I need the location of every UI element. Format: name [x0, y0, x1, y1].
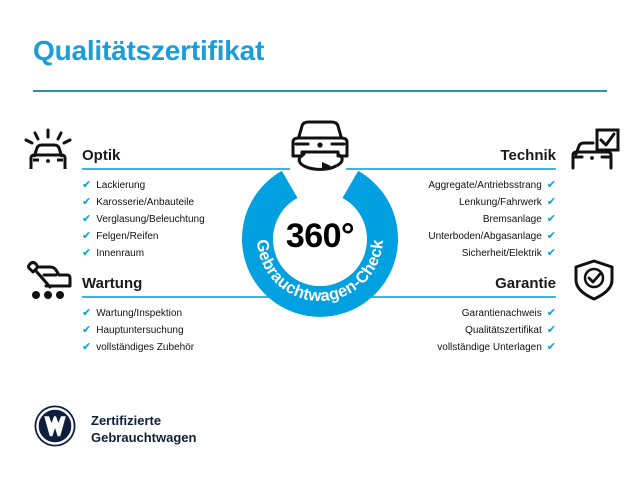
check-icon: ✔	[82, 322, 91, 339]
section-divider-optik	[82, 168, 242, 170]
car-checkbox-icon	[566, 128, 620, 177]
car-shine-icon	[22, 128, 74, 177]
check-icon: ✔	[547, 245, 556, 262]
check-icon: ✔	[547, 177, 556, 194]
check-icon: ✔	[82, 177, 91, 194]
list-item: ✔ Karosserie/Anbauteile	[82, 194, 242, 211]
qualitaetszertifikat-page: Qualitätszertifikat	[0, 0, 640, 480]
check-icon: ✔	[82, 339, 91, 356]
list-item-label: Lenkung/Fahrwerk	[459, 194, 542, 211]
checklist-wartung: ✔ Wartung/Inspektion ✔ Hauptuntersuchung…	[82, 305, 242, 356]
car-rotation-icon	[276, 110, 364, 183]
check-icon: ✔	[82, 194, 91, 211]
list-item: ✔ Lackierung	[82, 177, 242, 194]
check-icon: ✔	[82, 211, 91, 228]
list-item-label: Unterboden/Abgasanlage	[428, 228, 541, 245]
list-item: ✔ Innenraum	[82, 245, 242, 262]
page-title: Qualitätszertifikat	[33, 35, 264, 67]
360-gebrauchtwagen-check-badge: Gebrauchtwagen-Check 360°	[232, 150, 408, 326]
check-icon: ✔	[547, 305, 556, 322]
list-item-label: Verglasung/Beleuchtung	[96, 211, 204, 228]
list-item-label: Lackierung	[96, 177, 145, 194]
list-item: ✔ vollständige Unterlagen	[346, 339, 556, 356]
vw-logo	[33, 404, 77, 453]
section-title-optik: Optik	[82, 147, 120, 164]
list-item-label: Sicherheit/Elektrik	[462, 245, 542, 262]
check-icon: ✔	[82, 305, 91, 322]
check-icon: ✔	[547, 339, 556, 356]
list-item: ✔ Hauptuntersuchung	[82, 322, 242, 339]
list-item-label: Hauptuntersuchung	[96, 322, 183, 339]
list-item-label: Garantienachweis	[462, 305, 542, 322]
section-wartung: Wartung ✔ Wartung/Inspektion ✔ Hauptunte…	[82, 268, 242, 356]
check-icon: ✔	[547, 194, 556, 211]
section-header-optik: Optik	[82, 140, 242, 170]
check-icon: ✔	[547, 211, 556, 228]
header-divider	[33, 90, 607, 92]
brand-line-2: Gebrauchtwagen	[91, 429, 196, 446]
check-icon: ✔	[82, 228, 91, 245]
section-title-wartung: Wartung	[82, 275, 142, 292]
section-title-garantie: Garantie	[495, 275, 556, 292]
list-item-label: Wartung/Inspektion	[96, 305, 182, 322]
brand-text: Zertifizierte Gebrauchtwagen	[91, 412, 196, 446]
list-item: ✔ Verglasung/Beleuchtung	[82, 211, 242, 228]
list-item-label: Bremsanlage	[483, 211, 542, 228]
section-title-technik: Technik	[500, 147, 556, 164]
brand-line-1: Zertifizierte	[91, 412, 196, 429]
list-item: ✔ Wartung/Inspektion	[82, 305, 242, 322]
list-item: ✔ vollständiges Zubehör	[82, 339, 242, 356]
footer-brand: Zertifizierte Gebrauchtwagen	[33, 404, 196, 453]
section-divider-wartung	[82, 296, 242, 298]
shield-check-icon	[572, 258, 616, 307]
list-item-label: vollständiges Zubehör	[96, 339, 194, 356]
list-item-label: Felgen/Reifen	[96, 228, 158, 245]
list-item-label: Aggregate/Antriebsstrang	[428, 177, 541, 194]
check-icon: ✔	[547, 322, 556, 339]
check-icon: ✔	[547, 228, 556, 245]
list-item-label: Innenraum	[96, 245, 144, 262]
checklist-optik: ✔ Lackierung ✔ Karosserie/Anbauteile ✔ V…	[82, 177, 242, 262]
check-icon: ✔	[82, 245, 91, 262]
list-item-label: vollständige Unterlagen	[437, 339, 542, 356]
section-optik: Optik ✔ Lackierung ✔ Karosserie/Anbautei…	[82, 140, 242, 262]
list-item: ✔ Felgen/Reifen	[82, 228, 242, 245]
wrench-car-icon	[22, 258, 74, 307]
section-header-wartung: Wartung	[82, 268, 242, 298]
list-item-label: Karosserie/Anbauteile	[96, 194, 194, 211]
list-item-label: Qualitätszertifikat	[465, 322, 542, 339]
